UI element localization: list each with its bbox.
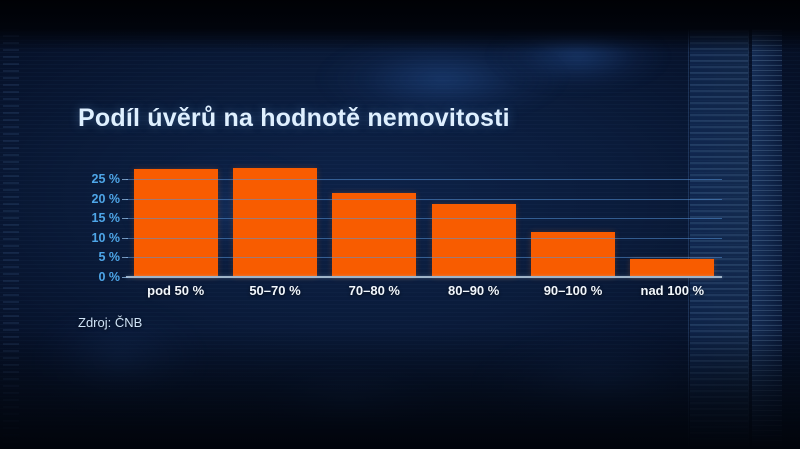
x-axis-tick-label: pod 50 % <box>126 283 225 298</box>
x-axis-tick-label: nad 100 % <box>623 283 722 298</box>
x-axis-labels: pod 50 %50–70 %70–80 %80–90 %90–100 %nad… <box>126 283 722 303</box>
y-axis-tick-label: 0 % <box>74 270 120 284</box>
y-axis-tick-mark <box>122 218 128 219</box>
x-axis-tick-label: 50–70 % <box>225 283 324 298</box>
y-axis-tick-label: 25 % <box>74 172 120 186</box>
plot-area <box>126 179 722 277</box>
broadcast-chart-screen: Podíl úvěrů na hodnotě nemovitosti 0 %5 … <box>0 0 800 449</box>
gridline-5 <box>126 257 722 258</box>
y-axis-tick-label: 20 % <box>74 192 120 206</box>
chart-title: Podíl úvěrů na hodnotě nemovitosti <box>78 104 510 133</box>
y-axis-tick-mark <box>122 277 128 278</box>
x-axis-tick-label: 70–80 % <box>325 283 424 298</box>
y-axis-tick-label: 15 % <box>74 211 120 225</box>
gridline-15 <box>126 218 722 219</box>
y-axis-tick-mark <box>122 257 128 258</box>
y-axis-tick-label: 10 % <box>74 231 120 245</box>
gridline-10 <box>126 238 722 239</box>
chart-content: Podíl úvěrů na hodnotě nemovitosti 0 %5 … <box>0 0 800 449</box>
bar-series <box>126 179 722 277</box>
source-note: Zdroj: ČNB <box>78 315 142 330</box>
bar <box>432 204 516 277</box>
gridline-20 <box>126 199 722 200</box>
y-axis-tick-label: 5 % <box>74 250 120 264</box>
x-axis-tick-label: 80–90 % <box>424 283 523 298</box>
y-axis-tick-mark <box>122 199 128 200</box>
bar <box>630 259 714 277</box>
x-axis-line <box>126 276 722 278</box>
gridline-25 <box>126 179 722 180</box>
x-axis-tick-label: 90–100 % <box>523 283 622 298</box>
y-axis-tick-mark <box>122 238 128 239</box>
y-axis-tick-mark <box>122 179 128 180</box>
bar <box>332 193 416 277</box>
bar <box>233 168 317 277</box>
bar <box>134 169 218 277</box>
